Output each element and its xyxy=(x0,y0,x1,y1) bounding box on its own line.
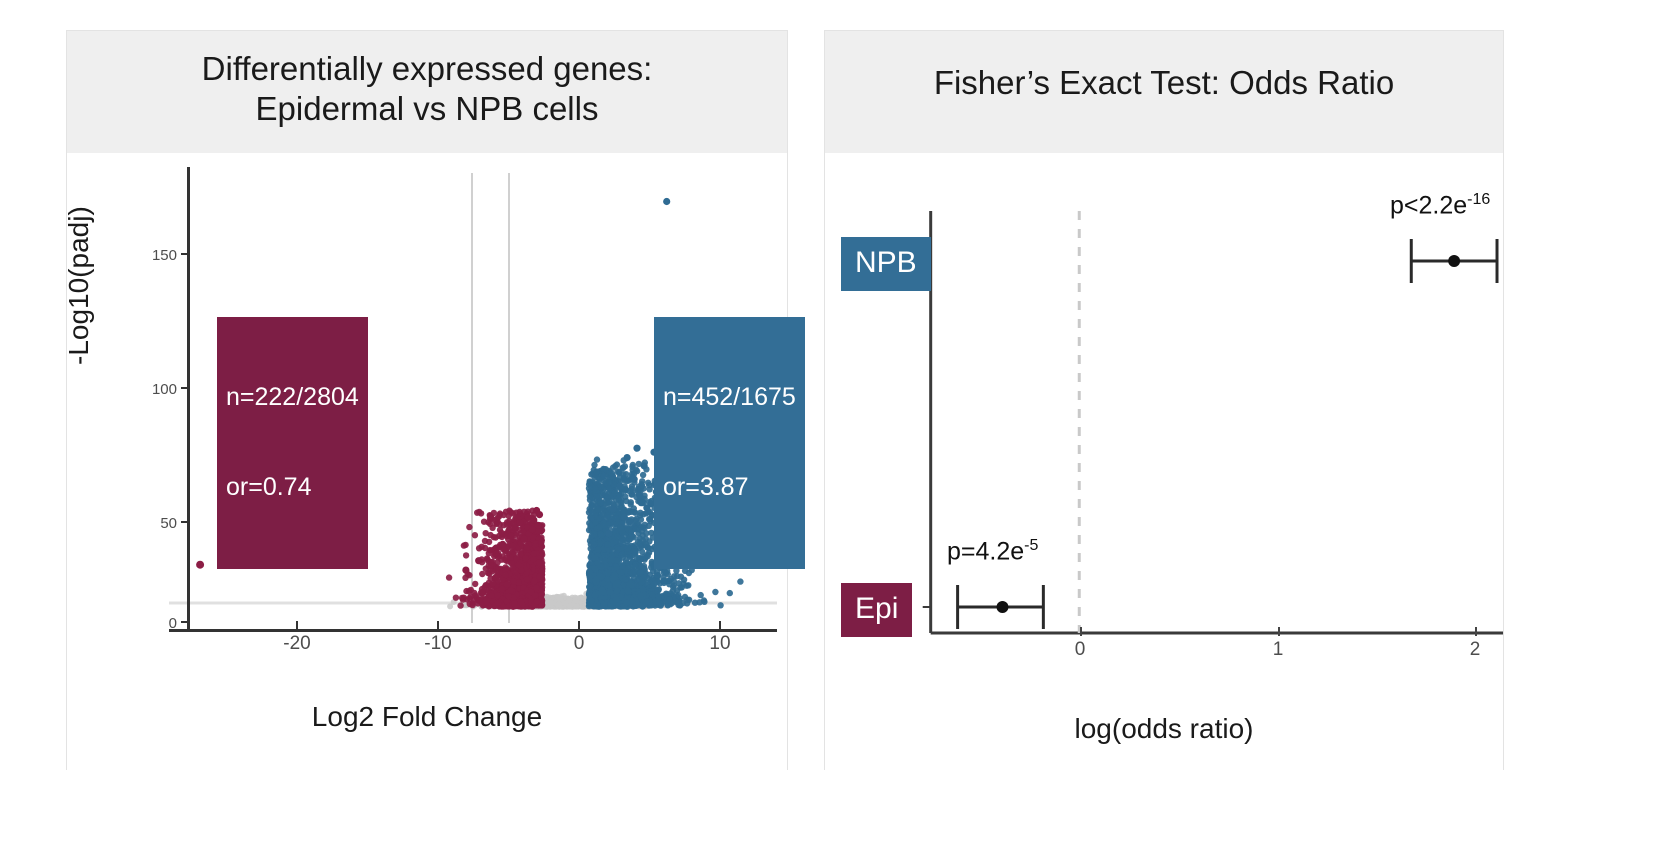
volcano-title-line1: Differentially expressed genes: xyxy=(77,49,777,89)
volcano-y-axis-label: -Log10(padj) xyxy=(63,206,95,365)
forest-xtickmark-1 xyxy=(1278,627,1280,636)
volcano-x-axis-label: Log2 Fold Change xyxy=(67,701,787,733)
volcano-down-badge: n=222/2804 or=0.74 xyxy=(217,317,368,569)
volcano-y-axis-line xyxy=(187,167,190,629)
forest-pvalue-epi: p=4.2e-5 xyxy=(947,537,1038,566)
volcano-plot-area: -Log10(padj) 150 100 50 0 -20 - xyxy=(67,153,787,771)
forest-pvalue-epi-exponent: -5 xyxy=(1024,537,1038,554)
volcano-xtick-m20: -20 xyxy=(274,633,320,655)
volcano-xtick-10: 10 xyxy=(697,633,743,655)
forest-category-npb: NPB xyxy=(841,237,931,291)
forest-xtickmark-2 xyxy=(1475,627,1477,636)
volcano-x-axis-line xyxy=(169,629,777,632)
volcano-xtickmark-0 xyxy=(578,621,580,629)
forest-npb-interval xyxy=(1411,239,1497,283)
volcano-xtickmark-m10 xyxy=(437,621,439,629)
forest-xtick-0: 0 xyxy=(1060,639,1100,661)
forest-pvalue-npb-exponent: -16 xyxy=(1467,191,1490,208)
forest-x-axis-label: log(odds ratio) xyxy=(825,713,1503,745)
volcano-title-line2: Epidermal vs NPB cells xyxy=(77,89,777,129)
volcano-up-badge: n=452/1675 or=3.87 xyxy=(654,317,805,569)
volcano-xtick-m10: -10 xyxy=(415,633,461,655)
forest-plot-area: NPB Epi p<2.2e-16 p=4.2e-5 0 1 2 log(odd… xyxy=(825,153,1503,771)
volcano-down-badge-n: n=222/2804 xyxy=(226,382,359,412)
volcano-xtickmark-m20 xyxy=(296,621,298,629)
volcano-up-badge-n: n=452/1675 xyxy=(663,382,796,412)
forest-pvalue-npb-prefix: p<2.2e xyxy=(1390,191,1467,219)
volcano-up-badge-or: or=3.87 xyxy=(663,472,796,502)
forest-xtick-2: 2 xyxy=(1455,639,1495,661)
volcano-panel: Differentially expressed genes: Epiderma… xyxy=(66,30,788,770)
forest-pvalue-epi-prefix: p=4.2e xyxy=(947,537,1024,565)
forest-epi-interval xyxy=(958,585,1044,629)
volcano-panel-title: Differentially expressed genes: Epiderma… xyxy=(67,31,787,153)
forest-xtickmark-0 xyxy=(1080,627,1082,636)
figure-container: Differentially expressed genes: Epiderma… xyxy=(0,0,1676,843)
forest-panel-title: Fisher’s Exact Test: Odds Ratio xyxy=(825,31,1503,153)
forest-xtick-1: 1 xyxy=(1258,639,1298,661)
forest-category-epi: Epi xyxy=(841,583,912,637)
volcano-down-badge-or: or=0.74 xyxy=(226,472,359,502)
volcano-xtickmark-10 xyxy=(719,621,721,629)
forest-panel: Fisher’s Exact Test: Odds Ratio xyxy=(824,30,1504,770)
volcano-xtick-0: 0 xyxy=(556,633,602,655)
forest-pvalue-npb: p<2.2e-16 xyxy=(1390,191,1490,220)
